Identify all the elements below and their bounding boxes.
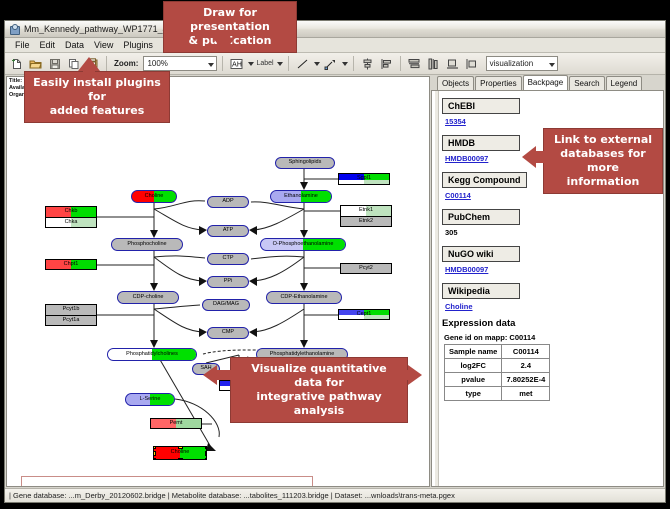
selection-handle-sw[interactable]: [153, 458, 156, 460]
node-label: DAG/MAG: [213, 302, 239, 308]
align-bottom-icon[interactable]: [444, 55, 461, 72]
status-bar-text: | Gene database: ...m_Derby_20120602.bri…: [9, 491, 455, 500]
node-label: PPi: [224, 279, 233, 285]
db-name-chebi: ChEBI: [442, 98, 520, 114]
node-cdp-choline[interactable]: CDP-choline: [117, 291, 179, 304]
node-label: Cept1: [357, 312, 372, 318]
callout-plugins-arrow-stem: [83, 69, 95, 75]
node-ppi[interactable]: PPi: [207, 276, 249, 288]
node-l-serine-left[interactable]: L-Serine: [125, 393, 175, 406]
text-box-icon[interactable]: AH: [228, 55, 245, 72]
distribute-horizontal-icon[interactable]: [406, 55, 423, 72]
db-link-nugo[interactable]: HMDB00097: [445, 265, 663, 274]
node-atp[interactable]: ATP: [207, 225, 249, 237]
selection-handle-e[interactable]: [205, 451, 207, 456]
toolbar-separator-3: [288, 56, 289, 71]
db-block-chebi: ChEBI 15354: [442, 96, 663, 126]
node-pcyt1a[interactable]: Pcyt1a: [45, 315, 97, 326]
gene-id-line: Gene id on mapp: C00114: [444, 333, 663, 342]
node-phosphocholine[interactable]: Phosphocholine: [111, 238, 183, 251]
node-dag-mag[interactable]: DAG/MAG: [202, 299, 250, 311]
node-label: Etnk1: [359, 208, 373, 214]
share-callout-text: Share on Wikipathways.org: [25, 485, 309, 488]
node-sgpl1[interactable]: Sgpl1: [338, 173, 390, 185]
expr-value: 7.80252E-4: [502, 373, 550, 387]
status-bar: | Gene database: ...m_Derby_20120602.bri…: [5, 488, 665, 502]
node-label: Sgpl1: [357, 176, 371, 182]
node-ethanolamine[interactable]: Ethanolamine: [270, 190, 332, 203]
toolbar-separator-5: [400, 56, 401, 71]
callout-plugins-line1: Easily install plugins for: [33, 76, 161, 104]
backpage-scroll-rail[interactable]: [435, 91, 439, 486]
db-link-wikipedia[interactable]: Choline: [445, 302, 663, 311]
node-label: ATP: [223, 228, 233, 234]
align-right-icon[interactable]: [463, 55, 480, 72]
tab-objects[interactable]: Objects: [437, 76, 474, 90]
node-label: Chkb: [65, 209, 78, 215]
node-cdp-ethanolamine[interactable]: CDP-Ethanolamine: [266, 291, 342, 304]
callout-visualize-arrow-left-stem: [216, 370, 231, 380]
menu-item-data[interactable]: Data: [60, 38, 89, 53]
node-label: Phosphatidylcholines: [126, 352, 178, 358]
tab-legend[interactable]: Legend: [606, 76, 643, 90]
node-chpt1[interactable]: Chpt1: [45, 259, 97, 270]
callout-plugins: Easily install plugins for added feature…: [24, 71, 170, 123]
db-name-nugo: NuGO wiki: [442, 246, 520, 262]
chevron-down-icon-shape[interactable]: [342, 62, 348, 66]
db-block-nugo: NuGO wiki HMDB00097: [442, 244, 663, 274]
node-label: Pemt: [170, 421, 183, 427]
expression-table: Sample name C00114 log2FC 2.4 pvalue 7.8…: [444, 344, 550, 401]
chevron-down-icon-label[interactable]: [277, 62, 283, 66]
screenshot-root: Mm_Kennedy_pathway_WP1771_45176.gpml Fil…: [0, 0, 670, 509]
db-name-hmdb: HMDB: [442, 135, 520, 151]
zoom-combo[interactable]: 100%: [143, 56, 217, 71]
node-label: CDP-Ethanolamine: [280, 295, 327, 301]
table-row: pvalue 7.80252E-4: [445, 373, 550, 387]
callout-visualize-arrow-right-stem: [405, 370, 411, 380]
save-icon[interactable]: [46, 55, 63, 72]
callout-draw-line1: Draw for presentation: [172, 6, 288, 34]
menu-bar: File Edit Data View Plugins Help: [5, 38, 665, 53]
share-callout: Share on Wikipathways.org: [21, 476, 313, 487]
node-phosphatidylcholines[interactable]: Phosphatidylcholines: [107, 348, 197, 361]
chevron-down-icon-text[interactable]: [248, 62, 254, 66]
pathway-canvas[interactable]: Title: Availa Organi: [6, 76, 430, 487]
db-value-pubchem: 305: [445, 228, 663, 237]
expression-data-title: Expression data: [442, 318, 663, 329]
selection-handle-s[interactable]: [178, 458, 183, 460]
callout-links-arrow-stem: [534, 151, 546, 163]
expr-key: log2FC: [445, 359, 502, 373]
menu-item-view[interactable]: View: [89, 38, 118, 53]
node-cept1[interactable]: Cept1: [338, 309, 390, 320]
selection-handle-n[interactable]: [178, 446, 183, 449]
node-cmp[interactable]: CMP: [207, 327, 249, 339]
toolbar-separator-4: [353, 56, 354, 71]
db-name-wikipedia: Wikipedia: [442, 283, 520, 299]
node-ctp[interactable]: CTP: [207, 253, 249, 265]
chevron-down-icon-line[interactable]: [314, 62, 320, 66]
node-pemt[interactable]: Pemt: [150, 418, 202, 429]
table-row: log2FC 2.4: [445, 359, 550, 373]
expr-value: met: [502, 387, 550, 401]
expr-value: 2.4: [502, 359, 550, 373]
db-name-pubchem: PubChem: [442, 209, 520, 225]
zoom-label: Zoom:: [114, 59, 138, 68]
title-bar: Mm_Kennedy_pathway_WP1771_45176.gpml: [5, 21, 665, 38]
node-label: L-Serine: [140, 397, 161, 403]
chevron-down-icon: [208, 63, 214, 67]
callout-visualize-line1: Visualize quantitative data for: [239, 362, 399, 390]
svg-text:AH: AH: [232, 60, 242, 68]
open-folder-icon[interactable]: [27, 55, 44, 72]
db-block-pubchem: PubChem 305: [442, 207, 663, 237]
tab-backpage[interactable]: Backpage: [523, 75, 569, 90]
expr-key: pvalue: [445, 373, 502, 387]
callout-visualize: Visualize quantitative data for integrat…: [230, 357, 408, 423]
menu-item-plugins[interactable]: Plugins: [118, 38, 158, 53]
selection-handle-se[interactable]: [205, 458, 207, 460]
node-label: O-Phosphoethanolamine: [273, 242, 334, 248]
node-label: Sphingolipids: [289, 160, 322, 166]
expr-key: type: [445, 387, 502, 401]
callout-links: Link to external databases for more info…: [543, 128, 663, 194]
node-label: Chpt1: [64, 262, 79, 268]
node-label: ADP: [222, 199, 233, 205]
expr-value: C00114: [502, 345, 550, 359]
line-tool-icon[interactable]: [294, 55, 311, 72]
node-adp[interactable]: ADP: [207, 196, 249, 208]
visualization-combo[interactable]: visualization: [486, 56, 558, 71]
db-name-kegg: Kegg Compound: [442, 172, 527, 188]
node-sphingolipids[interactable]: Sphingolipids: [275, 157, 335, 169]
callout-links-line1: Link to external: [552, 133, 654, 147]
node-chkb[interactable]: Chkb: [45, 206, 97, 217]
pathvisio-icon: [9, 24, 20, 35]
table-row: Sample name C00114: [445, 345, 550, 359]
new-file-icon[interactable]: [8, 55, 25, 72]
node-label: Pcyt1b: [63, 307, 80, 313]
toolbar-separator-2: [222, 56, 223, 71]
tab-search[interactable]: Search: [569, 76, 604, 90]
callout-draw-arrow-stem: [218, 32, 230, 41]
menu-item-file[interactable]: File: [10, 38, 35, 53]
callout-links-line3: more information: [552, 161, 654, 189]
node-chka[interactable]: Chka: [45, 217, 97, 228]
node-choline-selected[interactable]: Choline: [153, 446, 207, 460]
node-label: Choline: [171, 450, 190, 456]
node-label: Phosphocholine: [127, 242, 166, 248]
distribute-vertical-icon[interactable]: [425, 55, 442, 72]
node-o-phosphoethanolamine[interactable]: O-Phosphoethanolamine: [260, 238, 346, 251]
node-label: Pcyt1a: [63, 318, 80, 324]
align-left-icon[interactable]: [378, 55, 395, 72]
table-row: type met: [445, 387, 550, 401]
node-label: Choline: [145, 194, 164, 200]
expr-key: Sample name: [445, 345, 502, 359]
callout-visualize-line2: integrative pathway analysis: [239, 390, 399, 418]
node-label: CMP: [222, 330, 234, 336]
arrow-shape-icon[interactable]: [322, 55, 339, 72]
node-label: Etnk2: [359, 219, 373, 225]
node-label: CDP-choline: [133, 295, 164, 301]
node-pcyt2[interactable]: Pcyt2: [340, 263, 392, 274]
menu-item-edit[interactable]: Edit: [35, 38, 61, 53]
node-etnk1[interactable]: Etnk1: [340, 205, 392, 216]
tab-properties[interactable]: Properties: [475, 76, 521, 90]
label-tool-label: Label: [256, 60, 273, 67]
callout-plugins-line2: added features: [33, 104, 161, 118]
node-label: Chka: [65, 220, 78, 226]
db-block-wikipedia: Wikipedia Choline: [442, 281, 663, 311]
node-label: Ethanolamine: [284, 194, 318, 200]
selection-handle-nw[interactable]: [153, 446, 156, 449]
chevron-down-icon-vis: [549, 63, 555, 67]
callout-visualize-arrow-left-icon: [203, 365, 217, 385]
node-choline-top[interactable]: Choline: [131, 190, 177, 203]
callout-links-line2: databases for: [552, 147, 654, 161]
zoom-value: 100%: [147, 59, 167, 68]
toolbar-separator: [106, 56, 107, 71]
align-center-icon[interactable]: [359, 55, 376, 72]
selection-handle-ne[interactable]: [205, 446, 207, 449]
selection-handle-w[interactable]: [153, 451, 156, 456]
db-link-chebi[interactable]: 15354: [445, 117, 663, 126]
node-label: CTP: [223, 256, 234, 262]
side-tabstrip: Objects Properties Backpage Search Legen…: [431, 76, 664, 91]
node-pcyt1b[interactable]: Pcyt1b: [45, 304, 97, 315]
visualization-value: visualization: [490, 59, 534, 68]
node-label: Pcyt2: [359, 266, 373, 272]
node-etnk2[interactable]: Etnk2: [340, 216, 392, 227]
